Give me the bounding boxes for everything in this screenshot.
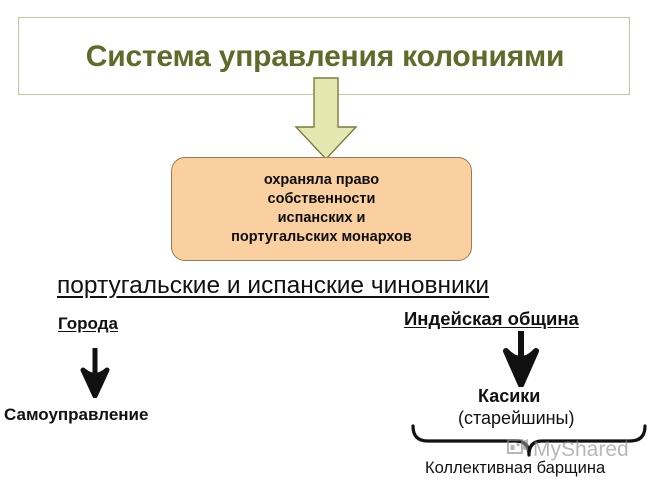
main-box-line-2: собственности	[268, 190, 376, 209]
down-block-arrow-icon	[294, 77, 358, 161]
right-branch-footer: Коллективная барщина	[425, 459, 605, 478]
left-branch-heading: Города	[58, 314, 118, 334]
curly-brace-down-icon	[410, 424, 648, 458]
slide-canvas: Система управления колониями охраняла пр…	[0, 0, 649, 487]
main-statement-box: охраняла право собственности испанских и…	[171, 157, 472, 261]
right-branch-result: Касики	[478, 386, 540, 407]
officials-heading: португальские и испанские чиновники	[57, 272, 489, 300]
right-branch-heading: Индейская община	[404, 308, 579, 330]
main-box-line-4: португальских монархов	[231, 228, 412, 247]
main-box-line-3: испанских и	[278, 209, 366, 228]
main-box-line-1: охраняла право	[264, 171, 379, 190]
right-down-arrow-icon	[500, 331, 542, 387]
left-branch-result: Самоуправление	[4, 405, 148, 425]
left-down-arrow-icon	[78, 348, 112, 398]
